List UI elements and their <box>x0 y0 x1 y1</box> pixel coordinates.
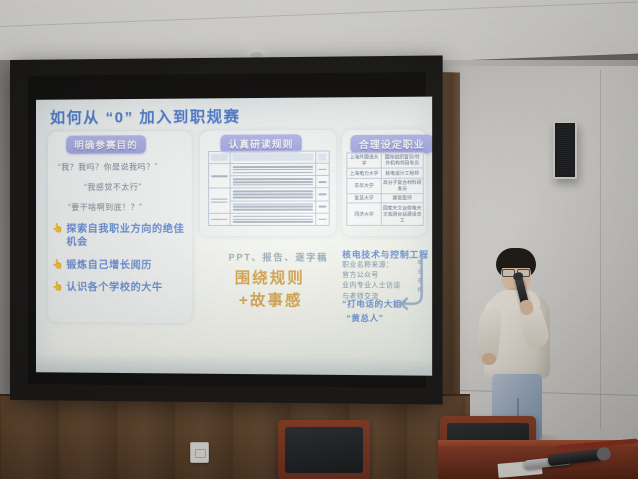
school-cell: 同济大学 <box>347 203 381 225</box>
wall-speaker <box>553 121 577 179</box>
bullet-label: 探索自我职业方向的绝佳机会 <box>66 224 185 249</box>
table-row <box>209 188 330 201</box>
quote-line: “要干啥啊到底！？” <box>68 202 142 213</box>
presenter <box>470 248 570 440</box>
bullet-label: 锻炼自己增长阅历 <box>66 260 152 273</box>
table-row <box>209 213 330 226</box>
section-pill-career: 合理设定职业 <box>351 135 433 154</box>
career-cell: 国际组织官员/驻外机构项目专员 <box>381 153 423 169</box>
ceiling-seam <box>0 1 638 27</box>
microphone-head <box>512 271 524 281</box>
table-row: 复旦大学 康复医师 <box>347 194 423 204</box>
university-career-table: 上海外国语大学 国际组织官员/驻外机构项目专员 上海电力大学 核电设计工程师 东… <box>346 152 423 226</box>
list-header: 职业名称来源： <box>342 261 400 272</box>
bullet-item: 👆 认识各个学校的大牛 <box>52 282 186 295</box>
slide-bottom-gradient <box>36 354 432 376</box>
center-subtitle: PPT、报告、逐字稿 <box>229 250 329 263</box>
school-cell: 复旦大学 <box>347 194 381 204</box>
presentation-slide: 如何从 “0” 加入到职规赛 明确参赛目的 认真研读规则 合理设定职业 “我？我… <box>36 97 432 376</box>
hair-fringe <box>498 257 534 268</box>
bullet-item: 👆 探索自我职业方向的绝佳机会 <box>52 224 186 249</box>
wood-wall-paneling <box>0 396 470 479</box>
career-cell: 国家天文台射电天文观测台站建设总工 <box>381 203 423 225</box>
school-cell: 上海外国语大学 <box>347 153 381 169</box>
hand-point-icon: 👆 <box>52 224 63 233</box>
table-row: 上海电力大学 核电设计工程师 <box>347 168 423 178</box>
table-row <box>209 151 330 164</box>
career-source-list: 职业名称来源： 官方公众号 业内专业人士访谈 与老师交流 <box>342 261 400 303</box>
rubric-table <box>208 150 330 226</box>
bullet-label: 认识各个学校的大牛 <box>66 282 162 295</box>
conference-room-scene: 如何从 “0” 加入到职规赛 明确参赛目的 认真研读规则 合理设定职业 “我？我… <box>0 0 638 479</box>
table-row: 同济大学 国家天文台射电天文观测台站建设总工 <box>347 203 423 225</box>
list-item: 业内专业人士访谈 <box>342 281 400 292</box>
table-row <box>209 163 330 176</box>
hand-point-icon: 👆 <box>52 282 63 292</box>
center-emphasis-line-2: +故事感 <box>239 289 303 311</box>
school-cell: 东华大学 <box>347 178 381 194</box>
school-cell: 上海电力大学 <box>347 169 381 179</box>
section-pill-purpose: 明确参赛目的 <box>66 135 146 154</box>
wall-outlet-icon <box>190 442 209 463</box>
conference-chair <box>278 420 370 479</box>
career-cell: 核电设计工程师 <box>381 168 423 178</box>
bullet-item: 👆 锻炼自己增长阅历 <box>52 260 186 273</box>
career-cell: 康复医师 <box>381 194 423 204</box>
center-emphasis-line-1: 围绕规则 <box>235 267 305 289</box>
table-row: 东华大学 高分子复合材料研发员 <box>347 178 423 194</box>
chair-cushion <box>285 427 363 473</box>
side-note-vertical: 职业名称 <box>417 259 423 296</box>
left-hand <box>482 353 496 365</box>
hand-point-icon: 👆 <box>52 260 63 269</box>
quote-line: “我？我吗？你是说我吗？” <box>58 161 158 172</box>
projection-screen-frame: 如何从 “0” 加入到职规赛 明确参赛目的 认真研读规则 合理设定职业 “我？我… <box>10 55 443 404</box>
quote-line: “我感觉不太行” <box>84 182 141 193</box>
list-item: 官方公众号 <box>342 271 400 282</box>
slide-title: 如何从 “0” 加入到职规赛 <box>50 105 241 128</box>
career-quote: “黄总人” <box>346 312 383 324</box>
table-row: 上海外国语大学 国际组织官员/驻外机构项目专员 <box>347 153 423 169</box>
wall-seam <box>600 70 601 430</box>
career-cell: 高分子复合材料研发员 <box>381 178 423 194</box>
